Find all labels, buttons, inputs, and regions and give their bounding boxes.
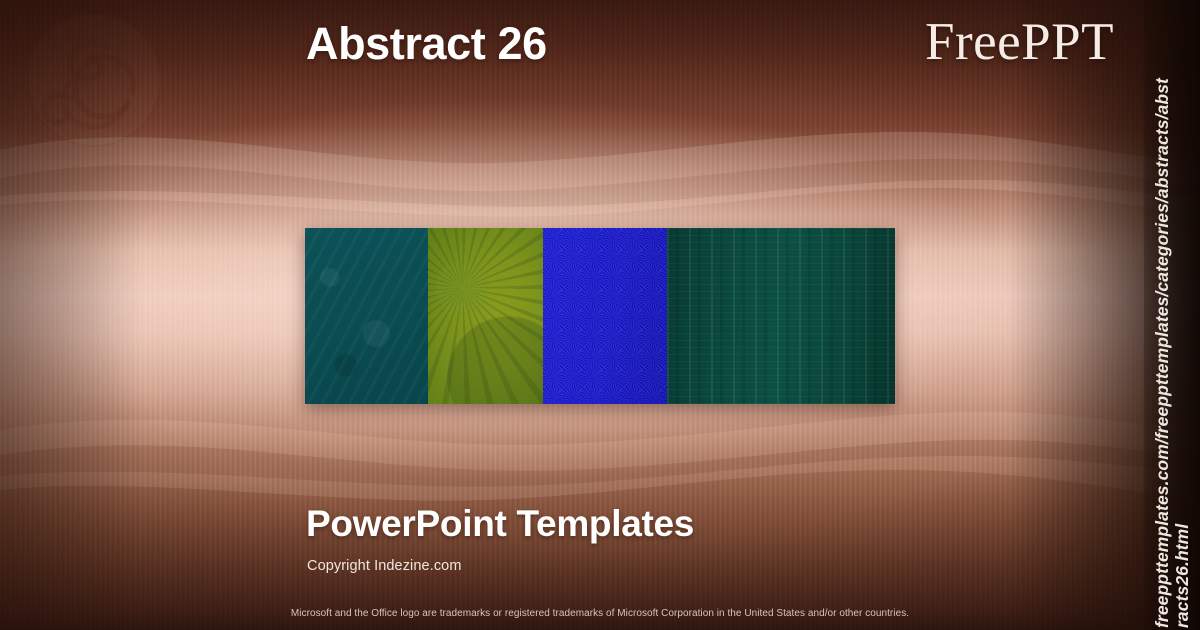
template-preview-card: Abstract 26 FreePPT PowerPoint Templates…	[0, 0, 1200, 630]
url-line-1: freeppttemplates.com/freeppttemplates/ca…	[1152, 78, 1172, 628]
page-title: Abstract 26	[306, 18, 547, 70]
brand-logo-text: FreePPT	[925, 12, 1114, 72]
olive-fan-panel	[428, 228, 543, 404]
template-thumbnail-strip[interactable]	[305, 228, 895, 404]
copyright-text: Copyright Indezine.com	[307, 558, 462, 574]
vertical-url: freeppttemplates.com/freeppttemplates/ca…	[1144, 0, 1198, 630]
blue-lattice-panel	[543, 228, 667, 404]
url-line-2: racts26.html	[1172, 8, 1192, 628]
dark-green-streaks-panel	[667, 228, 895, 404]
page-subtitle: PowerPoint Templates	[306, 503, 694, 545]
teal-texture-panel	[305, 228, 428, 404]
legal-disclaimer: Microsoft and the Office logo are tradem…	[0, 608, 1200, 619]
